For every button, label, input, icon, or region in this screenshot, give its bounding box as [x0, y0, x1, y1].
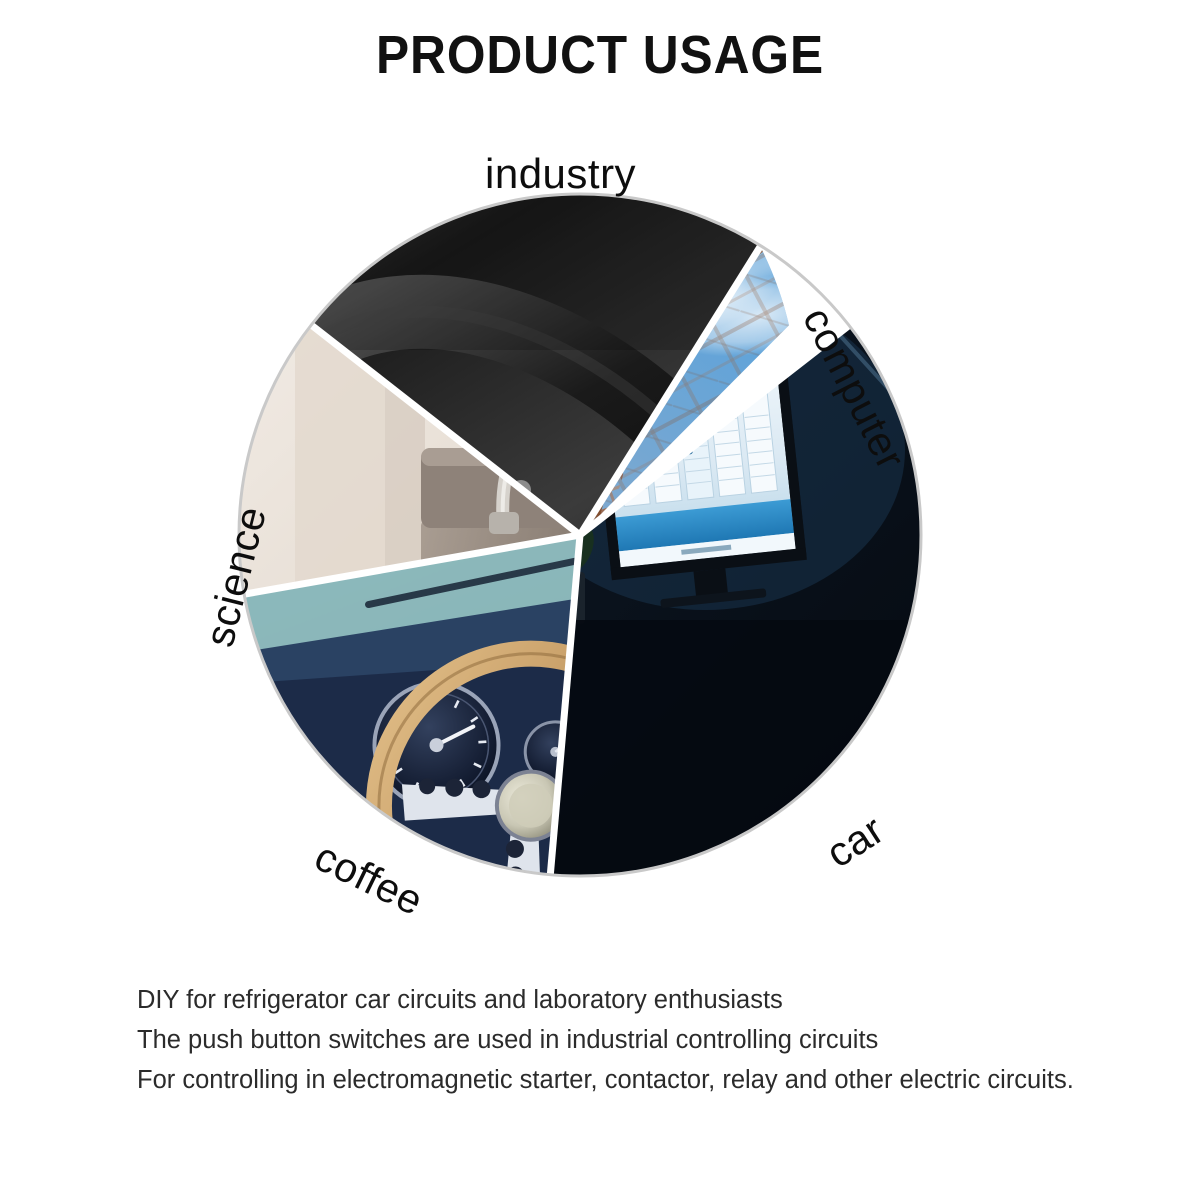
description-line-3: For controlling in electromagnetic start… — [137, 1060, 1157, 1100]
description-block: DIY for refrigerator car circuits and la… — [137, 980, 1157, 1100]
description-line-2: The push button switches are used in ind… — [137, 1020, 1157, 1060]
page-title: PRODUCT USAGE — [48, 24, 1152, 86]
pie-label-industry: industry — [485, 150, 636, 198]
product-usage-pie — [235, 190, 925, 880]
description-line-1: DIY for refrigerator car circuits and la… — [137, 980, 1157, 1020]
